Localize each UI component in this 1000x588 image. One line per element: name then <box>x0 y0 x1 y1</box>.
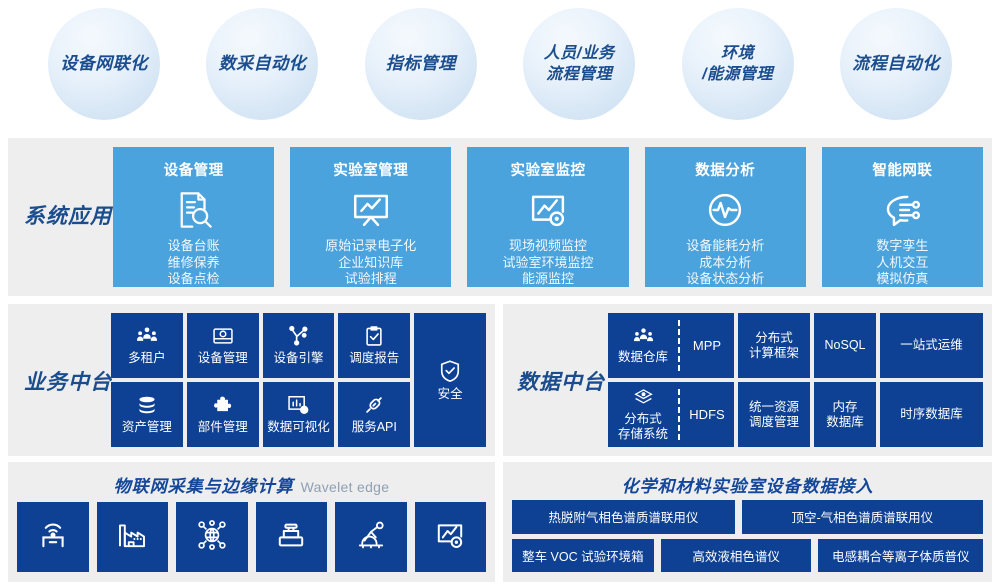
clipboard-check-icon <box>363 325 385 347</box>
tile-label: 时序数据库 <box>900 407 963 422</box>
tile-device-management[interactable]: 设备管理 <box>187 313 259 378</box>
sys-card-lines: 设备能耗分析 成本分析 设备状态分析 <box>686 238 764 288</box>
tile-label: 资产管理 <box>122 420 172 435</box>
sys-card-line: 设备能耗分析 <box>686 238 764 255</box>
bar-chart-screen-icon <box>287 394 309 416</box>
pulse-circle-icon <box>704 189 746 231</box>
tile-label: 一站式运维 <box>900 338 963 353</box>
iot-tile-gateway[interactable] <box>17 502 89 572</box>
capability-circle-3[interactable]: 指标管理 <box>365 8 477 120</box>
tile-distributed-compute[interactable]: 分布式 计算框架 <box>738 313 810 378</box>
capability-label-line1: 环境 <box>702 43 773 64</box>
tile-resource-scheduling[interactable]: 统一资源 调度管理 <box>738 382 810 447</box>
sys-card-title: 智能网联 <box>872 159 932 180</box>
business-column-3: 设备引擎 数据可视化 <box>263 313 335 447</box>
iot-icon-row <box>17 502 486 572</box>
tile-label: 调度报告 <box>349 351 399 366</box>
tile-label-line2: 数据库 <box>826 415 864 430</box>
tile-label-line1: 分布式 <box>755 331 793 346</box>
monitor-chart-icon <box>527 189 569 231</box>
sys-card-line: 原始记录电子化 <box>325 238 416 255</box>
business-platform-panel: 业务中台 多租户 <box>8 304 495 456</box>
sys-card-lines: 设备台账 维修保养 设备点检 <box>168 238 220 288</box>
sys-card-title: 实验室监控 <box>511 159 586 180</box>
sys-card-data-analysis[interactable]: 数据分析 设备能耗分析 成本分析 设备状态分析 <box>645 147 806 287</box>
sys-card-line: 设备点检 <box>168 271 220 288</box>
lab-equipment-rows: 热脱附气相色谱质谱联用仪 顶空-气相色谱质谱联用仪 整车 VOC 试验环境箱 高… <box>512 500 983 572</box>
tile-service-api[interactable]: 服务API <box>338 382 410 447</box>
business-column-2: 设备管理 部件管理 <box>187 313 259 447</box>
lab-tile-headspace-gcms[interactable]: 顶空-气相色谱质谱联用仪 <box>742 500 983 534</box>
capability-label: 流程自动化 <box>852 53 940 75</box>
capability-label: 指标管理 <box>386 53 456 75</box>
tile-label: 数据仓库 <box>618 350 668 365</box>
multi-tenant-icon <box>136 325 158 347</box>
sensor-device-icon <box>275 519 307 556</box>
iot-tile-factory[interactable] <box>97 502 169 572</box>
lab-equipment-header: 化学和材料实验室设备数据接入 <box>503 462 992 497</box>
lab-equipment-row-1: 热脱附气相色谱质谱联用仪 顶空-气相色谱质谱联用仪 <box>512 500 983 534</box>
tile-in-memory-db[interactable]: 内存 数据库 <box>814 382 876 447</box>
sys-card-smart-connect[interactable]: 智能网联 数字孪生 人机交互 模拟仿真 <box>822 147 983 287</box>
tile-security[interactable]: 安全 <box>414 313 486 447</box>
capability-label-line1: 人员/业务 <box>544 43 615 64</box>
lab-tile-icp-ms[interactable]: 电感耦合等离子体质普仪 <box>818 539 983 573</box>
sys-card-line: 模拟仿真 <box>876 271 928 288</box>
tile-dispatch-report[interactable]: 调度报告 <box>338 313 410 378</box>
tile-label: 安全 <box>438 387 463 402</box>
business-platform-grid: 多租户 资产管理 <box>111 313 486 447</box>
factory-icon <box>116 519 148 556</box>
business-platform-title: 业务中台 <box>24 366 112 396</box>
top-capability-circles: 设备网联化 数采自动化 指标管理 人员/业务 流程管理 环境 /能源管理 流程自… <box>0 0 1000 128</box>
iot-tile-robot-arm[interactable] <box>335 502 407 572</box>
capability-label-line2: 流程管理 <box>544 64 615 85</box>
tile-label: 数据可视化 <box>267 420 330 435</box>
lab-tile-label: 整车 VOC 试验环境箱 <box>522 546 644 565</box>
sys-card-line: 试验室环境监控 <box>503 255 594 272</box>
lab-tile-voc-chamber[interactable]: 整车 VOC 试验环境箱 <box>512 539 654 573</box>
system-application-title: 系统应用 <box>24 200 112 230</box>
tile-data-warehouse[interactable]: 数据仓库 MPP <box>608 313 734 378</box>
connected-chat-icon <box>881 189 923 231</box>
sys-card-lab-monitoring[interactable]: 实验室监控 现场视频监控 试验室环境监控 能源监控 <box>467 147 628 287</box>
tile-one-stop-ops[interactable]: 一站式运维 <box>880 313 983 378</box>
sys-card-lines: 原始记录电子化 企业知识库 试验排程 <box>325 238 416 288</box>
puzzle-piece-icon <box>212 394 234 416</box>
monitor-chart-icon <box>434 519 466 556</box>
tile-label-line2: 调度管理 <box>749 415 799 430</box>
network-globe-icon <box>196 519 228 556</box>
lab-tile-label: 高效液相色谱仪 <box>692 546 780 565</box>
iot-edge-header: 物联网采集与边缘计算Wavelet edge <box>8 462 495 497</box>
node-graph-icon <box>287 325 309 347</box>
iot-tile-network[interactable] <box>176 502 248 572</box>
shield-check-icon <box>438 359 462 383</box>
sys-card-device-management[interactable]: 设备管理 设备台账 维修保养 设备点检 <box>113 147 274 287</box>
lab-equipment-title: 化学和材料实验室设备数据接入 <box>622 477 874 496</box>
tile-device-engine[interactable]: 设备引擎 <box>263 313 335 378</box>
business-column-1: 多租户 资产管理 <box>111 313 183 447</box>
sys-card-line: 人机交互 <box>876 255 928 272</box>
iot-tile-sensor[interactable] <box>256 502 328 572</box>
data-column-framework: 分布式 计算框架 统一资源 调度管理 <box>738 313 810 447</box>
lab-tile-label: 电感耦合等离子体质普仪 <box>832 546 970 565</box>
sys-card-title: 实验室管理 <box>333 159 408 180</box>
sys-card-lines: 现场视频监控 试验室环境监控 能源监控 <box>503 238 594 288</box>
tile-label: 部件管理 <box>198 420 248 435</box>
tile-label-line2: 存储系统 <box>618 427 668 442</box>
presentation-chart-icon <box>350 189 392 231</box>
database-stack-icon <box>136 394 158 416</box>
capability-circle-2[interactable]: 数采自动化 <box>206 8 318 120</box>
system-application-panel: 系统应用 设备管理 设备台账 维修保养 设备点检 实验室管 <box>8 138 992 296</box>
sys-card-line: 设备状态分析 <box>686 271 764 288</box>
tile-component-management[interactable]: 部件管理 <box>187 382 259 447</box>
data-platform-grid: 数据仓库 MPP 分布式 <box>608 313 983 447</box>
lab-equipment-panel: 化学和材料实验室设备数据接入 热脱附气相色谱质谱联用仪 顶空-气相色谱质谱联用仪… <box>503 462 992 582</box>
capability-circle-6[interactable]: 流程自动化 <box>840 8 952 120</box>
robot-arm-icon <box>355 519 387 556</box>
sys-card-line: 维修保养 <box>168 255 220 272</box>
tile-label: 设备引擎 <box>273 351 323 366</box>
data-platform-panel: 数据中台 数据仓库 MPP <box>503 304 992 456</box>
device-box-icon <box>212 325 234 347</box>
tile-label: 服务API <box>352 420 397 435</box>
data-column-ops: 一站式运维 时序数据库 <box>880 313 983 447</box>
iot-edge-title-en: Wavelet edge <box>301 479 390 495</box>
tile-label: 多租户 <box>128 351 166 366</box>
split-left: 数据仓库 <box>608 313 678 378</box>
tile-distributed-storage[interactable]: 分布式 存储系统 HDFS <box>608 382 734 447</box>
tile-label-line2: 计算框架 <box>749 346 799 361</box>
iot-edge-title-cn: 物联网采集与边缘计算 <box>114 477 294 496</box>
tile-multi-tenant[interactable]: 多租户 <box>111 313 183 378</box>
tile-label-line1: 分布式 <box>624 412 662 427</box>
tile-asset-management[interactable]: 资产管理 <box>111 382 183 447</box>
plug-connect-icon <box>363 394 385 416</box>
sys-card-lines: 数字孪生 人机交互 模拟仿真 <box>876 238 928 288</box>
iot-tile-monitor[interactable] <box>415 502 487 572</box>
tile-label: 设备管理 <box>198 351 248 366</box>
tile-label-hdfs: HDFS <box>680 382 734 447</box>
capability-circle-5[interactable]: 环境 /能源管理 <box>682 8 794 120</box>
split-left: 分布式 存储系统 <box>608 382 678 447</box>
sys-card-line: 现场视频监控 <box>503 238 594 255</box>
architecture-diagram: 设备网联化 数采自动化 指标管理 人员/业务 流程管理 环境 /能源管理 流程自… <box>0 0 1000 588</box>
sys-card-line: 成本分析 <box>686 255 764 272</box>
tile-label-line1: 统一资源 <box>749 400 799 415</box>
lab-tile-label: 热脱附气相色谱质谱联用仪 <box>548 507 698 526</box>
tile-timeseries-db[interactable]: 时序数据库 <box>880 382 983 447</box>
tile-label-line1: 内存 <box>832 400 857 415</box>
data-column-split: 数据仓库 MPP 分布式 <box>608 313 734 447</box>
sys-card-title: 数据分析 <box>695 159 755 180</box>
sys-card-line: 企业知识库 <box>325 255 416 272</box>
capability-circle-1[interactable]: 设备网联化 <box>48 8 160 120</box>
tile-nosql[interactable]: NoSQL <box>814 313 876 378</box>
tile-label-mpp: MPP <box>680 313 734 378</box>
business-column-security: 安全 <box>414 313 486 447</box>
iot-edge-panel: 物联网采集与边缘计算Wavelet edge <box>8 462 495 582</box>
sys-card-title: 设备管理 <box>164 159 224 180</box>
sys-card-line: 试验排程 <box>325 271 416 288</box>
data-platform-title: 数据中台 <box>517 366 605 396</box>
sys-card-line: 数字孪生 <box>876 238 928 255</box>
sys-card-line: 能源监控 <box>503 271 594 288</box>
lab-tile-label: 顶空-气相色谱质谱联用仪 <box>792 507 934 526</box>
capability-label: 数采自动化 <box>219 53 307 75</box>
business-column-4: 调度报告 服务API <box>338 313 410 447</box>
multi-tenant-icon <box>633 326 654 347</box>
layers-cube-icon <box>633 388 654 409</box>
document-search-icon <box>173 189 215 231</box>
sys-card-line: 设备台账 <box>168 238 220 255</box>
capability-circle-4[interactable]: 人员/业务 流程管理 <box>523 8 635 120</box>
lab-equipment-row-2: 整车 VOC 试验环境箱 高效液相色谱仪 电感耦合等离子体质普仪 <box>512 539 983 573</box>
tile-label: NoSQL <box>825 338 866 353</box>
lab-tile-hplc[interactable]: 高效液相色谱仪 <box>661 539 812 573</box>
tile-data-visualization[interactable]: 数据可视化 <box>263 382 335 447</box>
capability-label: 设备网联化 <box>60 53 148 75</box>
lab-tile-thermal-desorption-gcms[interactable]: 热脱附气相色谱质谱联用仪 <box>512 500 735 534</box>
data-column-db: NoSQL 内存 数据库 <box>814 313 876 447</box>
gateway-wifi-icon <box>37 519 69 556</box>
sys-card-lab-management[interactable]: 实验室管理 原始记录电子化 企业知识库 试验排程 <box>290 147 451 287</box>
system-application-cards: 设备管理 设备台账 维修保养 设备点检 实验室管理 <box>113 147 983 287</box>
capability-label-line2: /能源管理 <box>702 64 773 85</box>
